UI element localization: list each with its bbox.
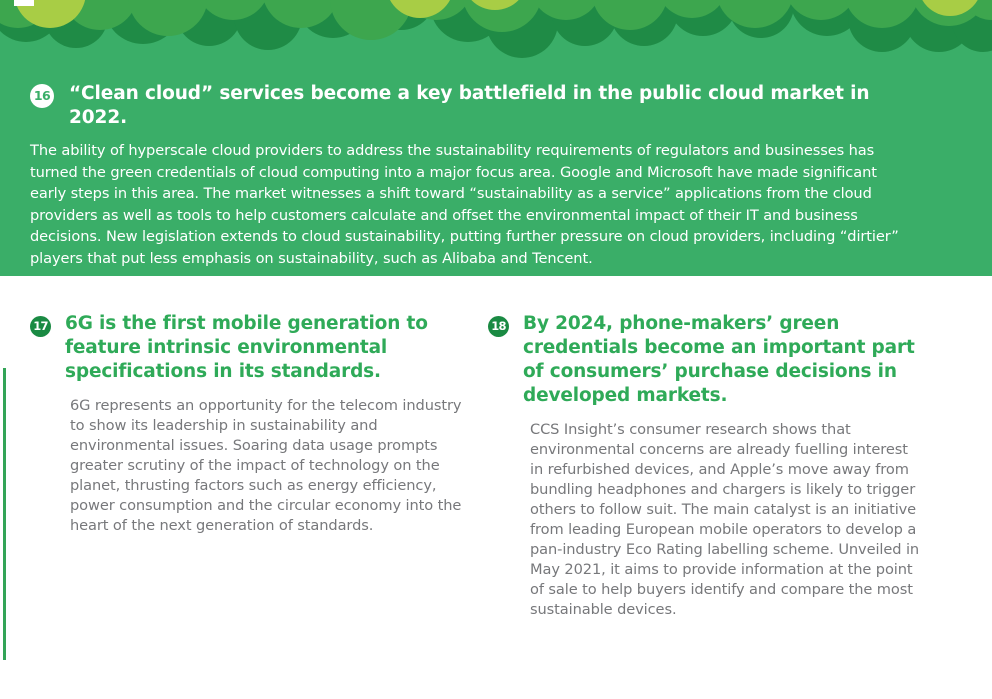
- leaf-shape: [462, 0, 528, 10]
- green-highlight-panel: 16 “Clean cloud” services become a key b…: [0, 0, 992, 276]
- leaf-shape: [610, 0, 678, 46]
- leaf-shape: [398, 0, 474, 20]
- prediction-18-body: CCS Insight’s consumer research shows th…: [530, 420, 922, 620]
- prediction-16: 16 “Clean cloud” services become a key b…: [30, 82, 930, 269]
- leaf-shape: [462, 0, 542, 32]
- leaf-shape: [330, 0, 412, 40]
- leaf-shape: [790, 0, 864, 36]
- leaf-shape: [176, 0, 242, 46]
- leaf-shape: [430, 0, 506, 42]
- leaf-shape: [62, 0, 138, 30]
- prediction-number-badge-18: 18: [488, 316, 509, 337]
- leaf-shape: [386, 0, 454, 18]
- leaf-shape: [552, 0, 618, 46]
- prediction-16-header: 16 “Clean cloud” services become a key b…: [30, 82, 930, 130]
- leaf-shape: [196, 0, 270, 20]
- leaf-shape: [530, 0, 602, 20]
- prediction-17-heading: 6G is the first mobile generation to fea…: [65, 312, 450, 384]
- foliage-decoration-band: [0, 0, 992, 60]
- leaf-shape: [716, 0, 794, 28]
- prediction-18: 18 By 2024, phone-makers’ green credenti…: [488, 312, 936, 620]
- leaf-shape: [656, 0, 728, 18]
- left-edge-accent-rule: [3, 368, 6, 660]
- prediction-17-body: 6G represents an opportunity for the tel…: [70, 396, 464, 536]
- leaf-shape: [844, 0, 920, 28]
- leaf-shape: [0, 0, 62, 42]
- lower-content-region: 17 6G is the first mobile generation to …: [0, 276, 992, 699]
- leaf-shape: [728, 0, 794, 38]
- prediction-number-badge-17: 17: [30, 316, 51, 337]
- prediction-18-heading: By 2024, phone-makers’ green credentials…: [523, 312, 936, 408]
- leaf-shape: [848, 0, 916, 52]
- leaf-shape: [104, 0, 182, 44]
- leaf-shape: [592, 0, 668, 30]
- leaf-shape: [952, 0, 992, 52]
- leaf-shape: [486, 0, 558, 58]
- prediction-18-header: 18 By 2024, phone-makers’ green credenti…: [488, 312, 936, 408]
- prediction-17: 17 6G is the first mobile generation to …: [30, 312, 450, 536]
- prediction-17-header: 17 6G is the first mobile generation to …: [30, 312, 450, 384]
- prediction-16-heading: “Clean cloud” services become a key batt…: [69, 82, 930, 130]
- leaf-shape: [784, 0, 858, 20]
- leaf-shape: [296, 0, 370, 38]
- leaf-shape: [44, 0, 108, 48]
- top-left-notch: [14, 0, 34, 6]
- leaf-shape: [668, 0, 738, 36]
- leaf-shape: [366, 0, 436, 30]
- leaf-shape: [904, 0, 974, 52]
- leaf-shape: [918, 0, 982, 16]
- leaf-shape: [262, 0, 340, 28]
- prediction-16-body: The ability of hyperscale cloud provider…: [30, 140, 906, 269]
- leaf-shape: [234, 0, 302, 50]
- leaf-shape: [910, 0, 988, 26]
- leaf-shape: [128, 0, 208, 36]
- leaf-shape: [960, 0, 992, 20]
- prediction-number-badge-16: 16: [30, 84, 54, 108]
